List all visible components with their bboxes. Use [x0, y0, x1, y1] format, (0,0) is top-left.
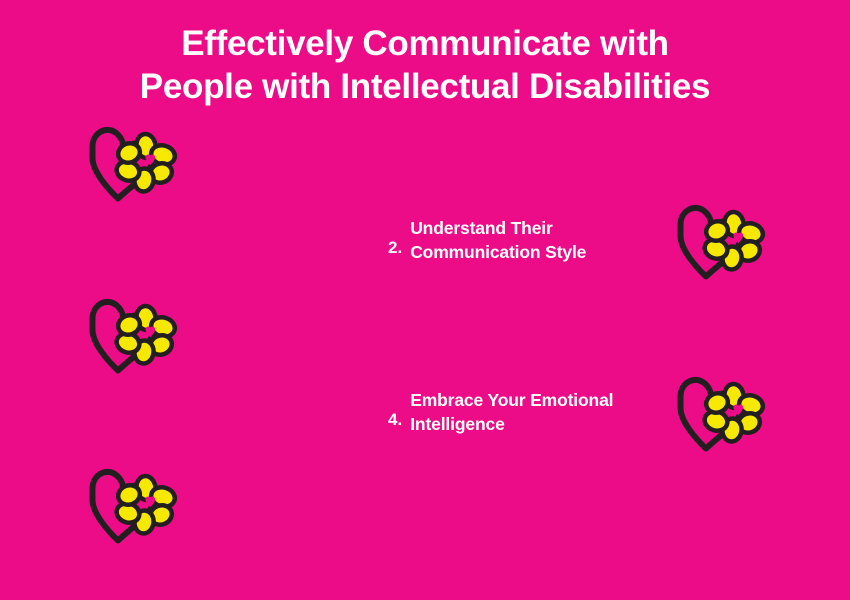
item-number: 1. — [192, 159, 206, 176]
item-label-line-2: the Conversation — [214, 504, 355, 524]
item-content: 4. Embrace Your Emotional Intelligence — [388, 380, 613, 444]
item-label: Be Inclusive During the Conversation — [214, 478, 375, 526]
item-label: Embrace Your Emotional Intelligence — [410, 388, 613, 436]
heart-flower-icon — [82, 466, 178, 552]
heart-flower-icon — [82, 124, 178, 210]
item-content: 3. Practice Active Listening — [192, 300, 337, 364]
item-label-line-1: See the Person Not — [214, 138, 372, 158]
item-label-line-1: Embrace Your Emotional — [410, 390, 613, 410]
item-label: See the Person Not the Disability — [214, 136, 372, 184]
item-label-line-2: Intelligence — [410, 414, 504, 434]
item-content: 2. Understand Their Communication Style — [388, 208, 586, 272]
item-label-line-2: the Disability — [214, 162, 321, 182]
item-label-line-1: Understand Their — [410, 218, 552, 238]
item-label: Understand Their Communication Style — [410, 216, 586, 264]
list-item: 2. Understand Their Communication Style — [318, 208, 740, 308]
list-item: 4. Embrace Your Emotional Intelligence — [318, 380, 740, 480]
infographic-poster: Effectively Communicate with People with… — [0, 0, 850, 600]
item-number: 5. — [192, 501, 206, 518]
heart-flower-icon — [82, 296, 178, 382]
item-content: 1. See the Person Not the Disability — [192, 128, 372, 192]
item-number: 2. — [388, 239, 402, 256]
item-label-line-1: Be Inclusive During — [214, 480, 375, 500]
heart-flower-icon — [670, 202, 766, 288]
item-number: 3. — [192, 331, 206, 348]
item-label-line-2: Communication Style — [410, 242, 586, 262]
page-title-line-2: People with Intellectual Disabilities — [0, 65, 850, 108]
page-title-line-1: Effectively Communicate with — [0, 22, 850, 65]
list-item: 5. Be Inclusive During the Conversation — [110, 470, 520, 570]
item-content: 5. Be Inclusive During the Conversation — [192, 470, 375, 534]
page-title: Effectively Communicate with People with… — [0, 22, 850, 108]
heart-flower-icon — [670, 374, 766, 460]
item-label-line-1: Practice Active — [214, 310, 337, 330]
item-label: Practice Active Listening — [214, 308, 337, 356]
item-label-line-2: Listening — [214, 334, 290, 354]
item-number: 4. — [388, 411, 402, 428]
